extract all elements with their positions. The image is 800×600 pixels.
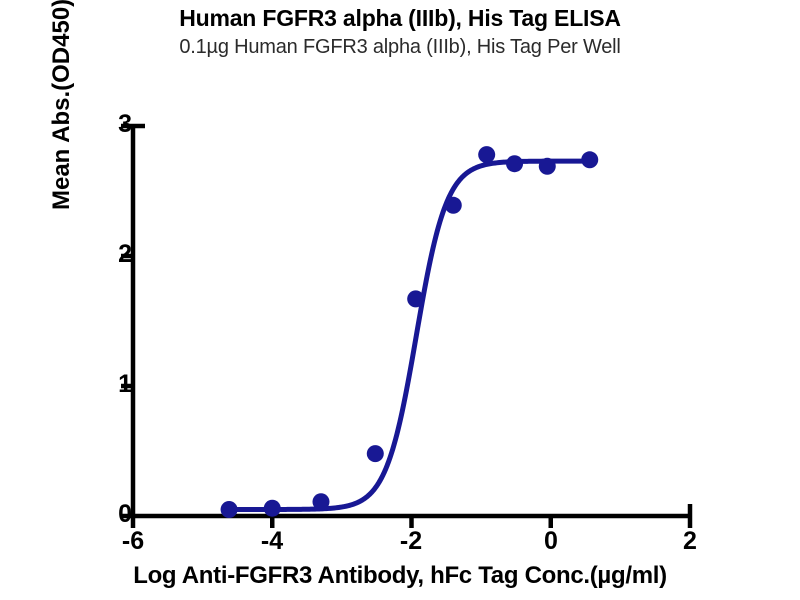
data-point-group (221, 146, 599, 518)
data-point (312, 493, 329, 510)
data-point (581, 151, 598, 168)
elisa-chart-figure: Human FGFR3 alpha (IIIb), His Tag ELISA … (0, 0, 800, 600)
axes-group (133, 126, 690, 516)
data-point (445, 197, 462, 214)
sigmoid-fit-curve (229, 161, 590, 509)
data-point (506, 155, 523, 172)
data-point (221, 501, 238, 518)
plot-area (0, 0, 800, 600)
data-point (478, 146, 495, 163)
ticks-group (121, 126, 690, 528)
data-point (264, 500, 281, 517)
data-point (407, 290, 424, 307)
data-point (367, 445, 384, 462)
data-point (539, 158, 556, 175)
